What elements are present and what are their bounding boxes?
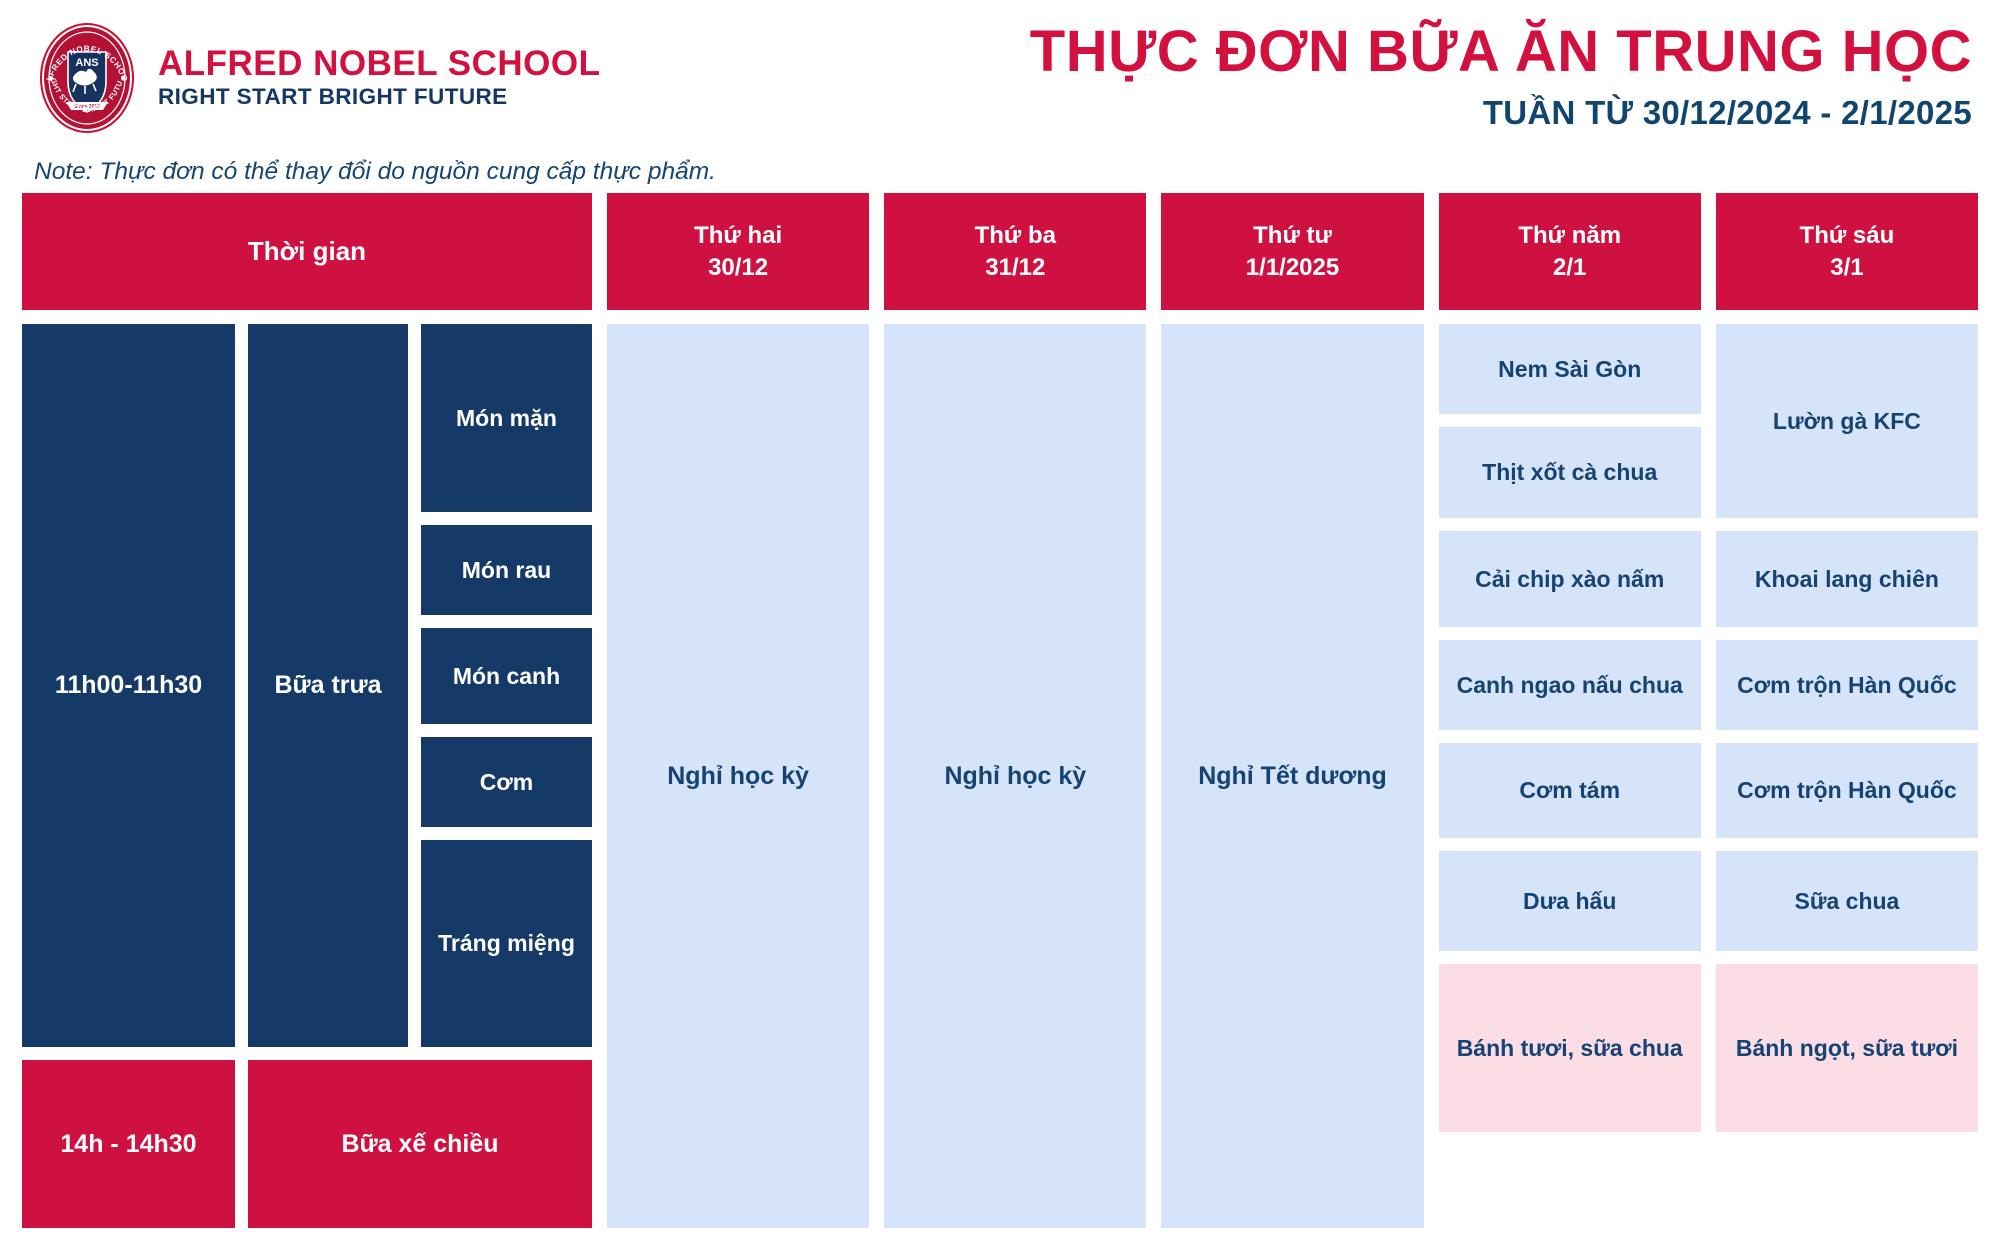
poster-header: ANS Since 2013 ALFRED NOBEL SCHOOL RIGHT… [0, 0, 2000, 190]
thursday-dish-2: Thịt xốt cà chua [1439, 427, 1701, 518]
lunch-meal-cell: Bữa trưa [248, 324, 408, 1047]
day-date: 30/12 [708, 252, 768, 284]
wednesday-status: Nghỉ Tết dương [1161, 324, 1423, 1228]
svg-text:ANS: ANS [75, 57, 98, 69]
header-time-label: Thời gian [248, 234, 366, 268]
column-tuesday: Nghỉ học kỳ [884, 324, 1146, 1228]
thursday-snack: Bánh tươi, sữa chua [1439, 964, 1701, 1132]
category-column: Món mặn Món rau Món canh Cơm Tráng miệng [421, 324, 592, 1047]
page-title: THỰC ĐƠN BỮA ĂN TRUNG HỌC [1030, 22, 1972, 83]
friday-dish-1: Lườn gà KFC [1716, 324, 1978, 518]
table-body: 11h00-11h30 Bữa trưa Món mặn Món rau Món… [22, 324, 1978, 1228]
day-name: Thứ năm [1518, 220, 1621, 252]
friday-dish-2: Khoai lang chiên [1716, 531, 1978, 627]
lunch-label-row: 11h00-11h30 Bữa trưa Món mặn Món rau Món… [22, 324, 592, 1047]
header-time: Thời gian [22, 193, 592, 310]
table-header-row: Thời gian Thứ hai 30/12 Thứ ba 31/12 Thứ… [22, 193, 1978, 310]
category-main-dish: Món mặn [421, 324, 592, 512]
header-day-monday: Thứ hai 30/12 [607, 193, 869, 310]
day-name: Thứ hai [694, 220, 782, 252]
snack-label-row: 14h - 14h30 Bữa xế chiều [22, 1060, 592, 1228]
snack-meal-cell: Bữa xế chiều [248, 1060, 592, 1228]
header-day-friday: Thứ sáu 3/1 [1716, 193, 1978, 310]
brand-text-block: ALFRED NOBEL SCHOOL RIGHT START BRIGHT F… [158, 46, 600, 110]
column-monday: Nghỉ học kỳ [607, 324, 869, 1228]
friday-snack: Bánh ngọt, sữa tươi [1716, 964, 1978, 1132]
category-vegetable: Món rau [421, 525, 592, 615]
column-thursday: Nem Sài Gòn Thịt xốt cà chua Cải chip xà… [1439, 324, 1701, 1228]
thursday-dish-1: Nem Sài Gòn [1439, 324, 1701, 414]
category-soup: Món canh [421, 628, 592, 724]
header-day-tuesday: Thứ ba 31/12 [884, 193, 1146, 310]
menu-poster: ANS Since 2013 ALFRED NOBEL SCHOOL RIGHT… [0, 0, 2000, 1246]
menu-table: Thời gian Thứ hai 30/12 Thứ ba 31/12 Thứ… [22, 193, 1978, 1228]
header-day-wednesday: Thứ tư 1/1/2025 [1161, 193, 1423, 310]
day-name: Thứ sáu [1800, 220, 1895, 252]
day-date: 31/12 [985, 252, 1045, 284]
day-date: 1/1/2025 [1246, 252, 1339, 284]
title-block: THỰC ĐƠN BỮA ĂN TRUNG HỌC TUẦN TỪ 30/12/… [1030, 22, 1972, 131]
thursday-dish-5: Cơm tám [1439, 743, 1701, 838]
header-day-thursday: Thứ năm 2/1 [1439, 193, 1701, 310]
school-name: ALFRED NOBEL SCHOOL [158, 46, 600, 83]
snack-time-cell: 14h - 14h30 [22, 1060, 235, 1228]
row-label-group: 11h00-11h30 Bữa trưa Món mặn Món rau Món… [22, 324, 592, 1228]
tuesday-status: Nghỉ học kỳ [884, 324, 1146, 1228]
menu-note: Note: Thực đơn có thể thay đổi do nguồn … [34, 158, 716, 186]
column-wednesday: Nghỉ Tết dương [1161, 324, 1423, 1228]
friday-dish-3: Cơm trộn Hàn Quốc [1716, 640, 1978, 730]
thursday-dish-6: Dưa hấu [1439, 851, 1701, 951]
ans-crest-logo: ANS Since 2013 ALFRED NOBEL SCHOOL RIGHT… [38, 22, 136, 134]
week-range: TUẦN TỪ 30/12/2024 - 2/1/2025 [1030, 95, 1972, 131]
day-name: Thứ ba [975, 220, 1056, 252]
day-name: Thứ tư [1253, 220, 1332, 252]
friday-dish-4: Cơm trộn Hàn Quốc [1716, 743, 1978, 838]
lunch-time-cell: 11h00-11h30 [22, 324, 235, 1047]
thursday-dish-3: Cải chip xào nấm [1439, 531, 1701, 627]
category-rice: Cơm [421, 737, 592, 827]
thursday-dish-4: Canh ngao nấu chua [1439, 640, 1701, 730]
school-brand: ANS Since 2013 ALFRED NOBEL SCHOOL RIGHT… [38, 22, 600, 134]
column-friday: Lườn gà KFC Khoai lang chiên Cơm trộn Hà… [1716, 324, 1978, 1228]
monday-status: Nghỉ học kỳ [607, 324, 869, 1228]
friday-dish-5: Sữa chua [1716, 851, 1978, 951]
category-dessert: Tráng miệng [421, 840, 592, 1047]
day-date: 3/1 [1830, 252, 1863, 284]
school-tagline: RIGHT START BRIGHT FUTURE [158, 85, 600, 110]
day-date: 2/1 [1553, 252, 1586, 284]
